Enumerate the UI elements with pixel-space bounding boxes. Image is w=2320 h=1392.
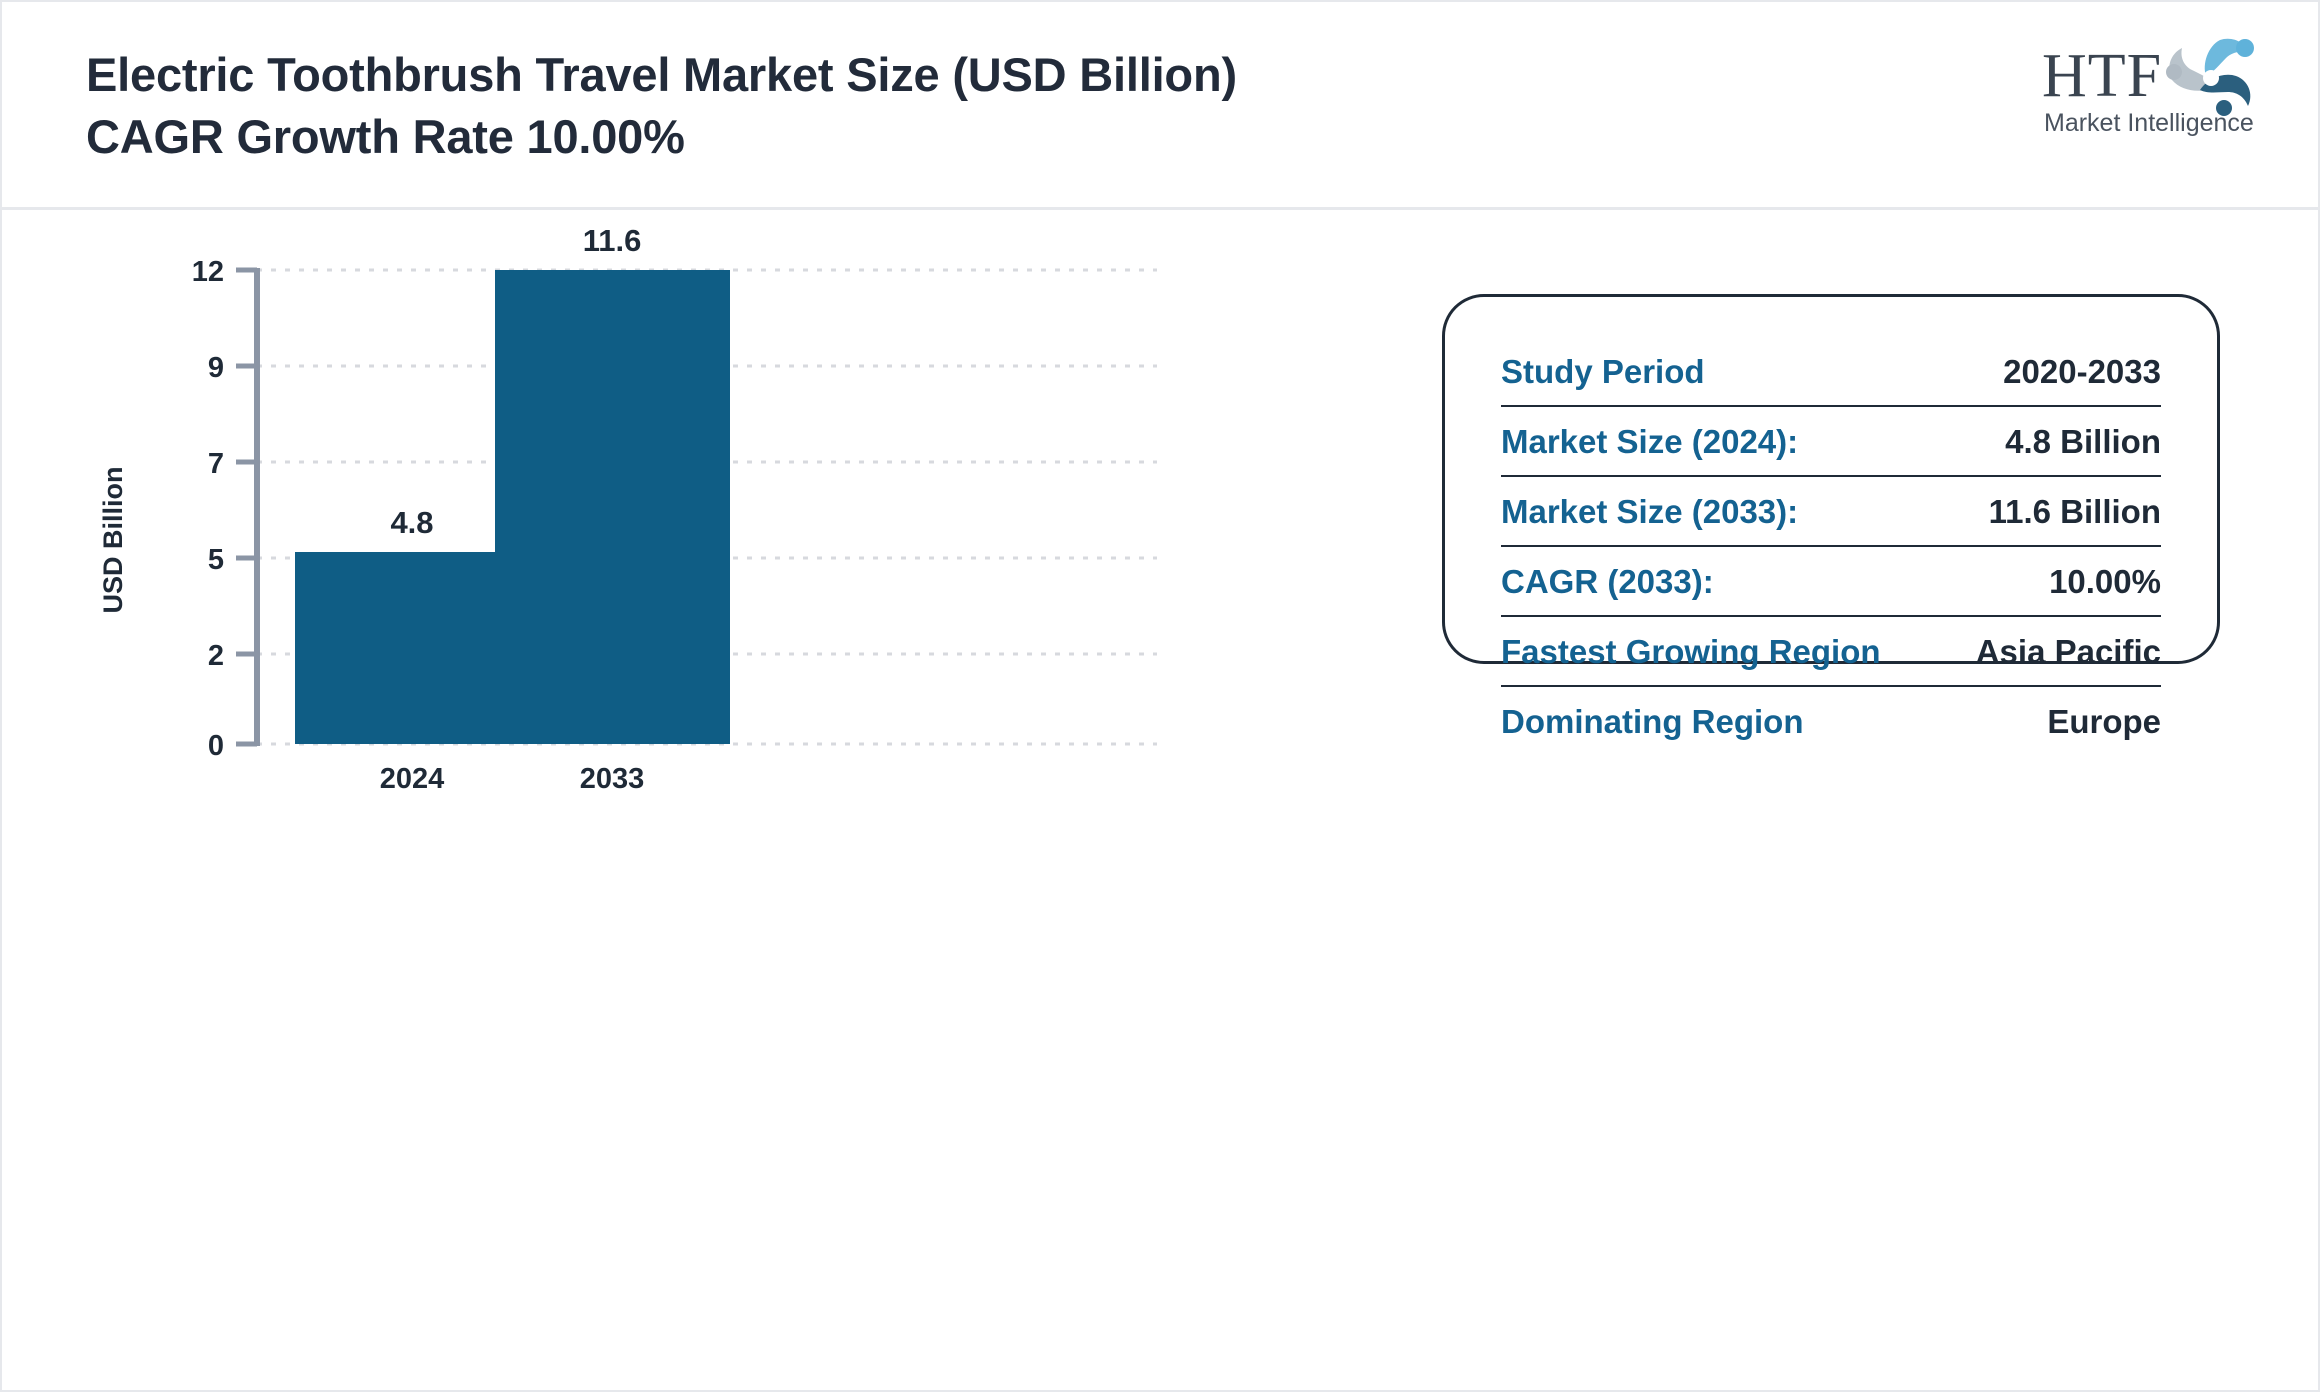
x-tick-label-2033: 2033	[580, 763, 645, 795]
summary-label: Dominating Region	[1501, 703, 1803, 741]
summary-label: CAGR (2033):	[1501, 563, 1714, 601]
bar-2033	[495, 270, 730, 744]
y-tick-label: 9	[208, 352, 224, 384]
bar-2024	[295, 552, 530, 744]
y-tick-label: 2	[208, 640, 224, 672]
page-title: Electric Toothbrush Travel Market Size (…	[86, 44, 1336, 168]
summary-row-dominating-region: Dominating Region Europe	[1501, 703, 2161, 741]
y-tick-label: 5	[208, 544, 224, 576]
market-summary-rows: Study Period 2020-2033 Market Size (2024…	[1501, 353, 2161, 741]
summary-label: Market Size (2024):	[1501, 423, 1798, 461]
summary-row-fastest-growing-region: Fastest Growing Region Asia Pacific	[1501, 633, 2161, 687]
y-tick-label: 12	[192, 256, 224, 288]
summary-row-cagr-2033: CAGR (2033): 10.00%	[1501, 563, 2161, 617]
svg-text:Market Intelligence: Market Intelligence	[2044, 109, 2254, 137]
summary-value: 10.00%	[2049, 563, 2161, 601]
summary-label: Market Size (2033):	[1501, 493, 1798, 531]
x-tick-label-2024: 2024	[380, 763, 445, 795]
bar-chart: 12 9 7 5 2 0 USD Billion 4.8 11.6 2024 2…	[2, 210, 1402, 1392]
svg-text:HTF: HTF	[2042, 42, 2162, 110]
summary-row-market-size-2024: Market Size (2024): 4.8 Billion	[1501, 423, 2161, 477]
summary-value: Asia Pacific	[1976, 633, 2161, 671]
y-tick-label: 7	[208, 448, 224, 480]
summary-row-market-size-2033: Market Size (2033): 11.6 Billion	[1501, 493, 2161, 547]
summary-value: Europe	[2047, 703, 2161, 741]
bar-value-label-2033: 11.6	[583, 223, 642, 258]
summary-value: 11.6 Billion	[1989, 493, 2161, 531]
summary-row-study-period: Study Period 2020-2033	[1501, 353, 2161, 407]
chart-y-ticks	[236, 270, 257, 744]
bar-value-label-2024: 4.8	[390, 505, 433, 540]
summary-label: Study Period	[1501, 353, 1705, 391]
page-header: Electric Toothbrush Travel Market Size (…	[2, 2, 2318, 210]
infographic-page: Electric Toothbrush Travel Market Size (…	[0, 0, 2320, 1392]
summary-value: 2020-2033	[2003, 353, 2161, 391]
y-axis-title: USD Billion	[98, 467, 128, 614]
y-tick-label: 0	[208, 730, 224, 762]
htf-market-intelligence-logo: HTF Market Intelligence	[2038, 30, 2276, 142]
market-summary-card: Study Period 2020-2033 Market Size (2024…	[1442, 294, 2220, 664]
summary-value: 4.8 Billion	[2005, 423, 2161, 461]
summary-label: Fastest Growing Region	[1501, 633, 1881, 671]
